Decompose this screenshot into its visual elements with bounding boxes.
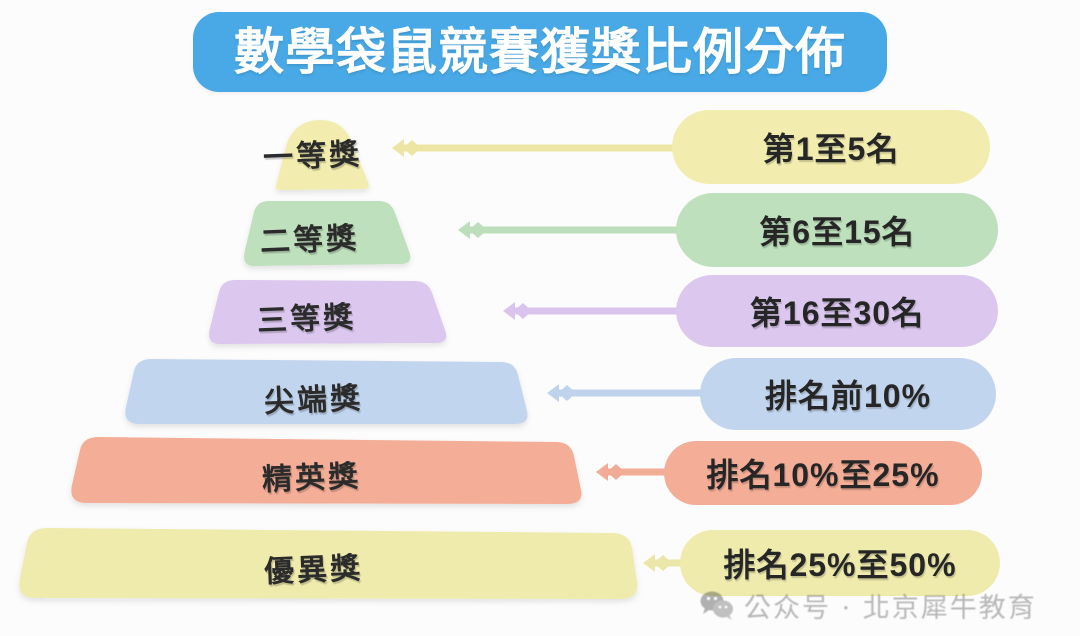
wechat-icon: [700, 590, 734, 620]
range-pill-6-label: 排名25%至50%: [723, 540, 956, 586]
range-pill-4[interactable]: 排名前10%: [700, 358, 996, 430]
watermark-text: 公众号 · 北京犀牛教育: [744, 586, 1037, 625]
range-pill-2[interactable]: 第6至15名: [676, 193, 998, 267]
range-pill-2-label: 第6至15名: [759, 207, 914, 253]
range-pill-5[interactable]: 排名10%至25%: [664, 441, 982, 505]
infographic-canvas: 數學袋鼠競賽獲獎比例分佈 一等獎 二等獎 三等獎 尖端獎 精英獎 優異獎: [0, 0, 1080, 636]
connector-1: [392, 139, 700, 157]
range-pill-4-label: 排名前10%: [765, 371, 931, 417]
range-pill-3-label: 第16至30名: [750, 288, 924, 334]
range-pill-5-label: 排名10%至25%: [706, 450, 939, 496]
range-pill-3[interactable]: 第16至30名: [676, 275, 998, 347]
watermark: 公众号 · 北京犀牛教育: [700, 583, 1037, 627]
range-pill-1[interactable]: 第1至5名: [672, 110, 990, 184]
range-pill-1-label: 第1至5名: [763, 124, 900, 170]
